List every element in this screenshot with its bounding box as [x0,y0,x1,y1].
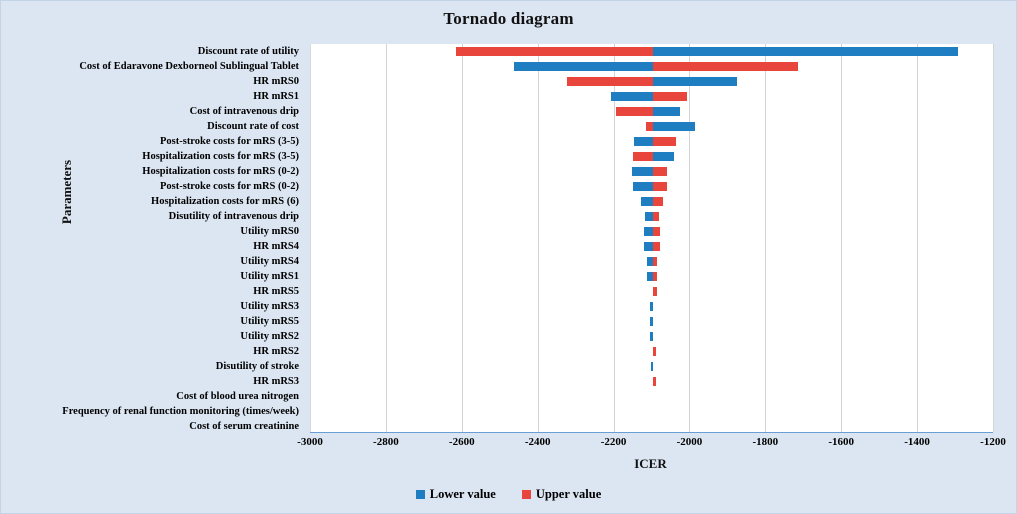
bar-row [310,59,993,74]
bar-upper [653,227,660,236]
x-axis-tick-label: -2400 [525,436,551,448]
bar-upper [653,287,657,296]
legend-label: Upper value [536,487,601,502]
bar-row [310,344,993,359]
bar-upper [653,257,657,266]
chart-legend: Lower valueUpper value [1,487,1016,502]
bar-row [310,389,993,404]
x-axis-title: ICER [310,456,991,472]
x-axis-tick-label: -2200 [601,436,627,448]
y-axis-tick-label: Hospitalization costs for mRS (6) [1,194,304,209]
bar-lower [651,362,653,371]
bar-row [310,254,993,269]
x-axis-tick-label: -2600 [449,436,475,448]
bar-row [310,359,993,374]
bar-lower [645,212,653,221]
y-axis-tick-label: Utility mRS5 [1,314,304,329]
bar-row [310,314,993,329]
bar-row [310,119,993,134]
y-axis-tick-label: Post-stroke costs for mRS (0-2) [1,179,304,194]
legend-label: Lower value [430,487,496,502]
y-axis-tick-label: Cost of Edaravone Dexborneol Sublingual … [1,59,304,74]
bar-upper [646,122,653,131]
bar-row [310,149,993,164]
bar-rows [310,44,993,432]
plot-area [310,44,993,433]
bar-upper [653,272,657,281]
bar-row [310,164,993,179]
legend-swatch-icon [522,490,531,499]
gridline [993,44,994,432]
bar-upper [653,167,667,176]
bar-row [310,89,993,104]
bar-row [310,74,993,89]
y-axis-tick-label: HR mRS0 [1,74,304,89]
bar-upper [633,152,653,161]
y-axis-tick-label: Utility mRS4 [1,254,304,269]
bar-lower [641,197,653,206]
y-axis-tick-label: HR mRS1 [1,89,304,104]
bar-row [310,209,993,224]
bar-lower [653,77,737,86]
bar-row [310,194,993,209]
y-axis-tick-label: Utility mRS0 [1,224,304,239]
bar-upper [653,137,676,146]
y-axis-tick-label: Cost of serum creatinine [1,419,304,434]
y-axis-tick-label: Disutility of intravenous drip [1,209,304,224]
y-axis-tick-label: Discount rate of cost [1,119,304,134]
bar-row [310,299,993,314]
bar-upper [653,242,660,251]
x-axis-tick-label: -1200 [980,436,1006,448]
bar-row [310,224,993,239]
bar-upper [653,347,656,356]
legend-item: Upper value [522,487,601,502]
bar-lower [632,167,653,176]
y-axis-tick-label: Post-stroke costs for mRS (3-5) [1,134,304,149]
y-axis-tick-label: Cost of blood urea nitrogen [1,389,304,404]
legend-item: Lower value [416,487,496,502]
bar-lower [644,227,653,236]
bar-lower [611,92,653,101]
x-axis-tick-label: -2000 [677,436,703,448]
bar-row [310,179,993,194]
bar-lower [514,62,653,71]
bar-upper [653,182,667,191]
bar-lower [634,137,653,146]
bar-lower [653,107,680,116]
x-axis-tick-label: -2800 [373,436,399,448]
tornado-diagram-figure: Tornado diagram Parameters Discount rate… [0,0,1017,514]
bar-row [310,44,993,59]
bar-upper [567,77,653,86]
legend-swatch-icon [416,490,425,499]
x-axis-tick-label: -3000 [297,436,323,448]
bar-row [310,374,993,389]
bar-row [310,404,993,419]
bar-upper [653,212,659,221]
bar-row [310,269,993,284]
bar-lower [633,182,653,191]
bar-row [310,104,993,119]
y-axis-tick-label: Cost of intravenous drip [1,104,304,119]
bar-lower [653,47,958,56]
bar-upper [456,47,653,56]
chart-title: Tornado diagram [1,9,1016,29]
y-axis-tick-label: Frequency of renal function monitoring (… [1,404,304,419]
bar-row [310,329,993,344]
y-axis-tick-label: Discount rate of utility [1,44,304,59]
y-axis-tick-label: Utility mRS3 [1,299,304,314]
bar-upper [616,107,653,116]
y-axis-tick-label: HR mRS3 [1,374,304,389]
bar-row [310,134,993,149]
y-axis-tick-label: Hospitalization costs for mRS (3-5) [1,149,304,164]
bar-upper [653,62,798,71]
x-axis-tick-label: -1800 [752,436,778,448]
bar-lower [653,152,673,161]
bar-upper [653,92,687,101]
y-axis-tick-label: Disutility of stroke [1,359,304,374]
x-axis-tick-labels: -3000-2800-2600-2400-2200-2000-1800-1600… [310,436,993,452]
y-axis-tick-label: Utility mRS1 [1,269,304,284]
bar-row [310,239,993,254]
x-axis-tick-label: -1400 [904,436,930,448]
bar-lower [650,302,653,311]
bar-upper [653,197,663,206]
x-axis-tick-label: -1600 [828,436,854,448]
bar-row [310,419,993,434]
y-axis-tick-label: Utility mRS2 [1,329,304,344]
y-axis-tick-label: HR mRS4 [1,239,304,254]
y-axis-tick-label: HR mRS2 [1,344,304,359]
y-axis-tick-label: HR mRS5 [1,284,304,299]
bar-upper [653,377,656,386]
bar-lower [653,122,695,131]
y-axis-tick-label: Hospitalization costs for mRS (0-2) [1,164,304,179]
bar-row [310,284,993,299]
bar-lower [650,332,653,341]
bar-lower [644,242,653,251]
bar-lower [650,317,653,326]
